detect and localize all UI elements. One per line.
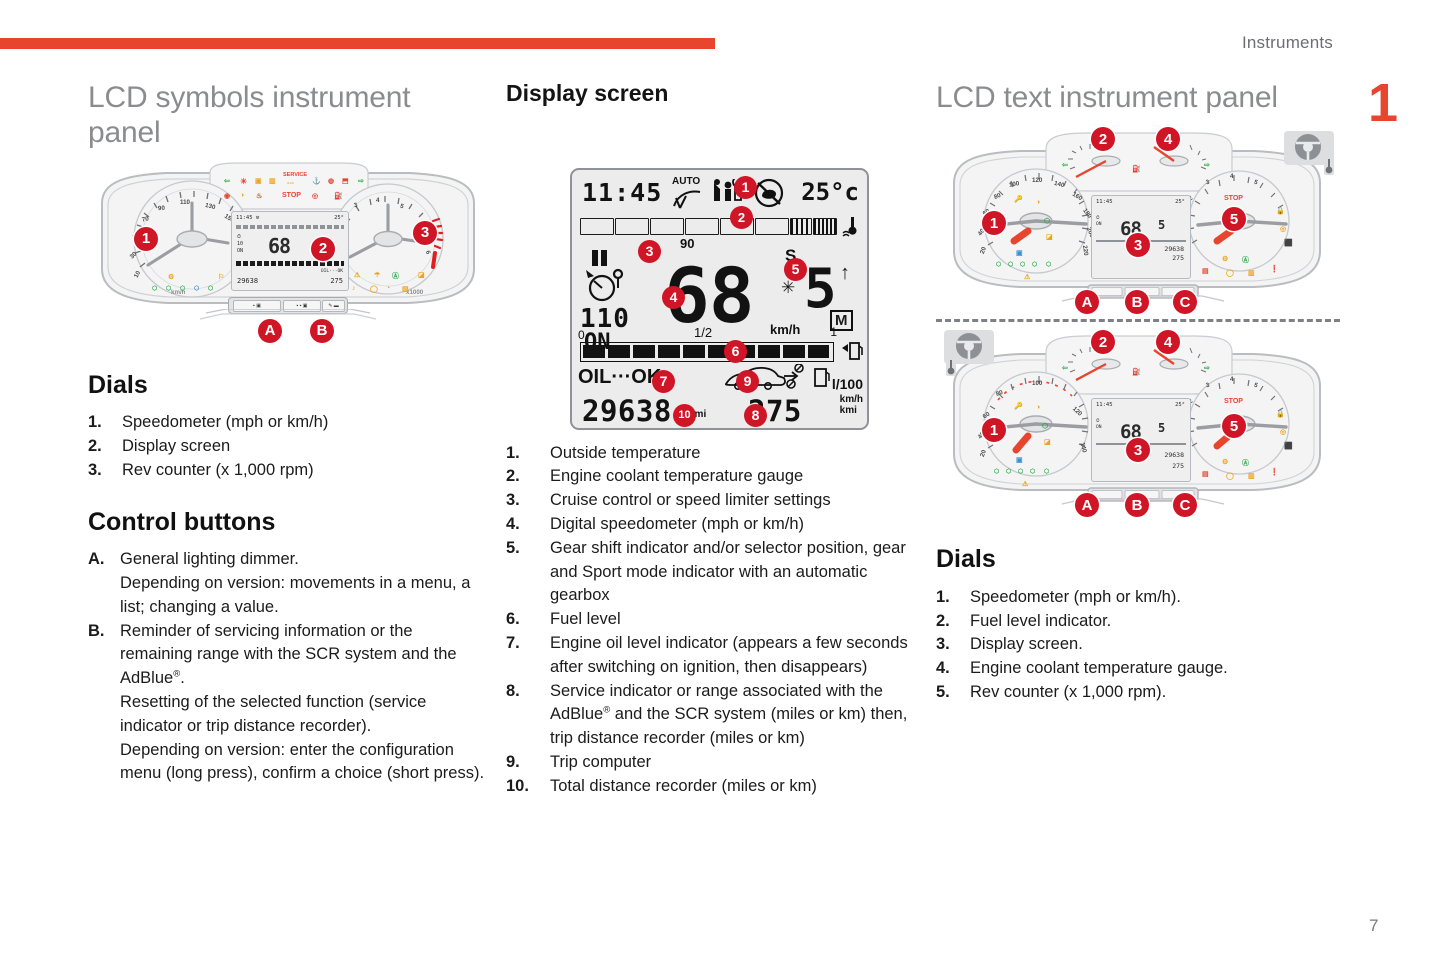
lcd-outside-temperature: 25°c [801, 178, 859, 206]
callout-badge-1: 1 [134, 227, 158, 251]
lcd-odometer: 29638 [1164, 451, 1184, 459]
fuel-scale-1: 1 [830, 325, 837, 339]
list-marker: 8. [506, 680, 520, 704]
snowflake-icon: ✳ [781, 278, 795, 298]
list-item: 8. Service indicator or range associated… [506, 680, 916, 751]
wiper-icon [670, 186, 704, 212]
lcd-text-panel-title: LCD text instrument panel [936, 80, 1340, 115]
fuel-pump-icon [840, 340, 864, 362]
lcd-symbols-cluster-diagram: 10 30 50 70 90 110 130 150 170 190 210 1… [88, 161, 488, 346]
list-marker: B. [88, 620, 105, 644]
list-item: 2. Display screen [88, 435, 488, 459]
display-screen-title: Display screen [506, 80, 916, 108]
callout-badge-5: 5 [784, 258, 807, 281]
dials-list: 1. Speedometer (mph or km/h) 2. Display … [88, 411, 488, 482]
list-marker: 2. [506, 465, 520, 489]
list-marker: 10. [506, 775, 529, 799]
lcd-gear: 5 [1158, 421, 1165, 435]
list-marker: 6. [506, 608, 520, 632]
lcd-clock: 11:45 [582, 178, 662, 207]
list-text: Trip computer [550, 753, 651, 771]
list-text: Depending on version: enter the configur… [120, 739, 488, 787]
list-item: 1. Speedometer (mph or km/h). [936, 586, 1340, 610]
list-item: 3. Display screen. [936, 633, 1340, 657]
page-title: LCD symbols instrument panel [88, 80, 488, 151]
list-item: 7. Engine oil level indicator (appears a… [506, 632, 916, 680]
list-marker: 3. [936, 633, 950, 657]
callout-badge-2: 2 [730, 206, 753, 229]
list-text: General lighting dimmer. [120, 548, 488, 572]
page-number: 7 [1369, 916, 1378, 936]
diagram-separator [936, 319, 1340, 322]
left-column: LCD symbols instrument panel [88, 80, 488, 786]
list-text: Rev counter (x 1,000 rpm) [122, 461, 314, 479]
lcd-clock: 11:45 [1096, 402, 1113, 408]
lcd-odometer: 29638 [1164, 245, 1184, 253]
coolant-scale-label: 90 [680, 236, 694, 251]
odometer-value: 29638 [582, 394, 672, 428]
control-buttons-heading: Control buttons [88, 509, 488, 537]
list-marker: 7. [506, 632, 520, 656]
dials-heading: Dials [88, 372, 488, 400]
callout-badge-6: 6 [724, 340, 747, 363]
display-screen-diagram: 11:45 AUTO 25°c [506, 118, 916, 438]
list-marker: 5. [506, 537, 520, 561]
list-text: Display screen. [970, 635, 1083, 653]
fan-off-icon [752, 178, 788, 208]
list-text: Reminder of servicing information or the… [120, 620, 488, 691]
callout-badge-4: 4 [662, 286, 685, 309]
lcd-temp: 25° [334, 215, 344, 221]
stop-warning-label: STOP [1224, 195, 1243, 202]
list-item: 5. Rev counter (x 1,000 rpm). [936, 681, 1340, 705]
callout-badge-b: B [310, 319, 334, 343]
middle-column: Display screen 11:45 AUTO 25°c [506, 80, 916, 799]
list-text: Engine coolant temperature gauge [550, 467, 803, 485]
list-item: 1. Speedometer (mph or km/h) [88, 411, 488, 435]
list-marker: 4. [506, 513, 520, 537]
list-item: 4. Digital speedometer (mph or km/h) [506, 513, 916, 537]
lcd-trip: 275 [1172, 254, 1184, 262]
list-marker: 1. [936, 586, 950, 610]
stop-warning-label: STOP [1224, 398, 1243, 405]
list-item: A. General lighting dimmer. Depending on… [88, 548, 488, 619]
oil-status-label: OIL···OK [578, 366, 661, 389]
list-item: 6. Fuel level [506, 608, 916, 632]
list-text: Engine coolant temperature gauge. [970, 659, 1228, 677]
list-marker: 3. [88, 459, 102, 483]
list-text: Resetting of the selected function (serv… [120, 691, 488, 739]
upshift-arrow-icon: ↑ [840, 262, 850, 285]
chapter-title: Instruments [1242, 33, 1333, 53]
chapter-number: 1 [1368, 76, 1398, 130]
list-text: Rev counter (x 1,000 rpm). [970, 683, 1166, 701]
button-bar-wings [88, 309, 488, 339]
gear-value: 5 [804, 262, 837, 316]
list-text: Cruise control or speed limiter settings [550, 491, 831, 509]
callout-badge-8: 8 [744, 404, 767, 427]
list-item: 9. Trip computer [506, 751, 916, 775]
fuel-canister-icon [812, 366, 830, 388]
lcd-clock: 11:45 [1096, 199, 1113, 205]
callout-badge-a: A [258, 319, 282, 343]
list-text: Gear shift indicator and/or selector pos… [550, 539, 906, 605]
list-item: 2. Fuel level indicator. [936, 610, 1340, 634]
list-text: Display screen [122, 437, 230, 455]
list-marker: 9. [506, 751, 520, 775]
list-text: Outside temperature [550, 444, 700, 462]
list-marker: 3. [506, 489, 520, 513]
control-buttons-list: A. General lighting dimmer. Depending on… [88, 548, 488, 786]
list-item: 1. Outside temperature [506, 442, 916, 466]
list-marker: 1. [506, 442, 520, 466]
lcd-temp: 25° [1175, 199, 1185, 205]
callout-badge-1: 1 [734, 176, 757, 199]
list-text: Total distance recorder (miles or km) [550, 777, 817, 795]
list-marker: 5. [936, 681, 950, 705]
callout-badge-2: 2 [311, 237, 335, 261]
list-item: 5. Gear shift indicator and/or selector … [506, 537, 916, 608]
list-item: 3. Rev counter (x 1,000 rpm) [88, 459, 488, 483]
lcd-temp: 25° [1175, 402, 1185, 408]
callout-badge-9: 9 [736, 370, 759, 393]
list-marker: 4. [936, 657, 950, 681]
list-text: Speedometer (mph or km/h). [970, 588, 1181, 606]
list-marker: 2. [936, 610, 950, 634]
coolant-gauge [580, 218, 832, 235]
lcd-speed: 68 [268, 234, 290, 258]
lcd-trip: 275 [330, 277, 343, 285]
callout-badge-10: 10 [673, 404, 696, 427]
list-item: 10. Total distance recorder (miles or km… [506, 775, 916, 799]
callout-badge-7: 7 [652, 370, 675, 393]
right-column: LCD text instrument panel [936, 80, 1340, 705]
consumption-unit-label: l/100 [832, 376, 863, 392]
range-unit-label: km/hkmi [840, 394, 863, 416]
header-red-rule [0, 38, 715, 49]
list-text: Fuel level indicator. [970, 612, 1111, 630]
list-marker: 2. [88, 435, 102, 459]
lcd-odometer: 29638 [237, 277, 258, 285]
list-item: B. Reminder of servicing information or … [88, 620, 488, 787]
dials-list: 1. Speedometer (mph or km/h). 2. Fuel le… [936, 586, 1340, 705]
display-screen-list: 1. Outside temperature 2. Engine coolant… [506, 442, 916, 799]
fuel-level-bar [580, 342, 834, 362]
lcd-gear: 5 [1158, 218, 1165, 232]
list-text: Service indicator or range associated wi… [550, 682, 907, 748]
lcd-trip: 275 [1172, 462, 1184, 470]
list-marker: A. [88, 548, 105, 572]
list-item: 4. Engine coolant temperature gauge. [936, 657, 1340, 681]
callout-badge-3: 3 [413, 221, 437, 245]
cruise-pause-icon [592, 250, 612, 266]
lcd-text-cluster-kmh-diagram: 20 40 60 80 100 120 140 160 180 200 220 … [936, 125, 1340, 325]
coolant-temp-icon [841, 215, 863, 237]
list-item: 3. Cruise control or speed limiter setti… [506, 489, 916, 513]
list-text: Digital speedometer (mph or km/h) [550, 515, 804, 533]
lcd-panel: 11:45 AUTO 25°c [570, 168, 869, 430]
speed-unit-label: km/h [770, 322, 800, 337]
list-text: Engine oil level indicator (appears a fe… [550, 634, 908, 676]
cruise-control-icon [580, 266, 632, 302]
fuel-scale-0: 0 [578, 328, 585, 342]
list-text: Fuel level [550, 610, 621, 628]
list-text: Depending on version: movements in a men… [120, 572, 488, 620]
list-text: Speedometer (mph or km/h) [122, 413, 328, 431]
lcd-text-cluster-mph-diagram: 20 40 60 80 100 120 140 1 2 3 4 5 STOP 🔑… [936, 328, 1340, 528]
dials-heading: Dials [936, 546, 1340, 574]
list-marker: 1. [88, 411, 102, 435]
fuel-scale-half: 1/2 [694, 325, 712, 340]
list-item: 2. Engine coolant temperature gauge [506, 465, 916, 489]
callout-badge-3: 3 [638, 240, 661, 263]
